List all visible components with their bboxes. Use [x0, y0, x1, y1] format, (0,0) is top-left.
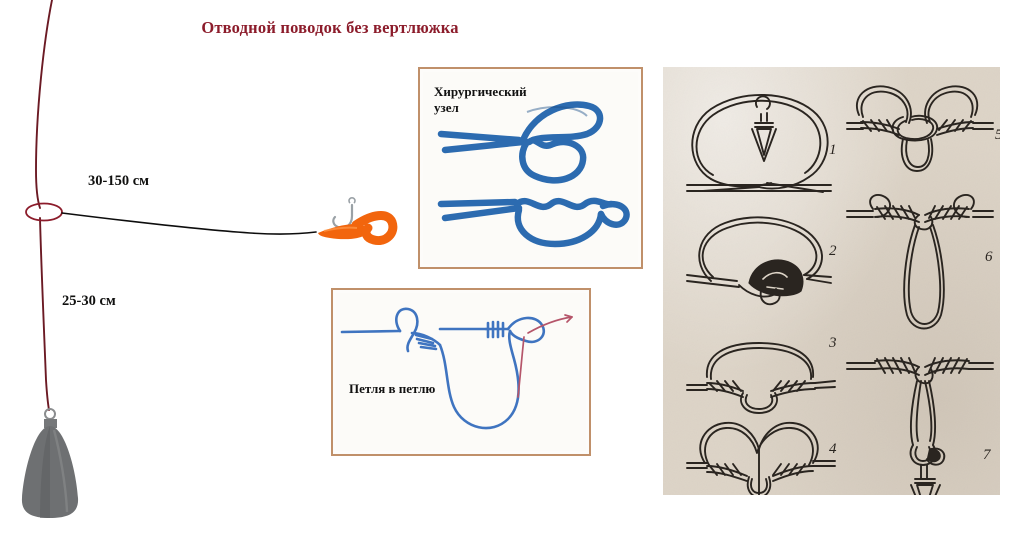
panel-loop-to-loop-caption: Петля в петлю [349, 381, 435, 397]
leader-line [62, 213, 316, 234]
main-line-upper [36, 0, 52, 208]
surgeon-upper-bottom-loop [522, 140, 583, 180]
panel-loop-to-loop-inner: Петля в петлю [336, 293, 586, 451]
dropper-length-label: 25-30 см [62, 293, 116, 310]
panel-surgeon-knot: Хирургический узел [418, 67, 643, 269]
step-number-1: 1 [829, 142, 837, 159]
panel-loop-to-loop: Петля в петлю [331, 288, 591, 456]
surgeon-upper-tail-b [445, 142, 523, 150]
fishing-rig-schematic: 30-150 см 25-30 см [0, 0, 420, 540]
surgeon-lower-tail-b [445, 208, 519, 218]
panel-surgeon-knot-inner: Хирургический узел [423, 72, 638, 264]
knot-step-3 [687, 343, 835, 413]
vintage-knot-steps-illustration: 1 2 3 4 5 6 7 [663, 67, 1000, 495]
leader-length-label: 30-150 см [88, 173, 149, 190]
sinker-ring-icon [45, 409, 55, 419]
hook-eye-icon [349, 198, 355, 203]
knot-step-2-shading [749, 260, 803, 296]
loop-right-small-loop [508, 318, 544, 342]
surgeon-lower-tail-a [441, 202, 515, 204]
loop-knot [26, 204, 62, 221]
knot-step-1 [687, 95, 831, 192]
surgeon-lower-end-loop [601, 204, 627, 225]
surgeon-lower-body [518, 210, 601, 244]
surgeon-lower-wraps [517, 201, 611, 207]
surgeon-upper-tail-a [441, 134, 519, 140]
knot-steps-drawing [663, 67, 1000, 495]
loop-left-line [342, 331, 400, 332]
loop-left-small-loop [396, 309, 417, 351]
panel-surgeon-knot-caption: Хирургический узел [434, 84, 527, 116]
loop-to-loop-diagram [336, 293, 586, 451]
step-number-4: 4 [829, 441, 837, 458]
step-number-3: 3 [829, 335, 837, 352]
step-number-2: 2 [829, 243, 837, 260]
loop-accent-line [518, 337, 524, 397]
knot-step-7-snap-shading [927, 449, 941, 463]
step-number-6: 6 [985, 249, 993, 266]
knot-step-7 [847, 358, 993, 495]
knot-step-5 [847, 86, 993, 171]
knot-step-6 [847, 195, 993, 329]
loop-long-droop [440, 331, 519, 428]
step-number-7: 7 [983, 447, 991, 464]
step-number-5: 5 [995, 127, 1000, 144]
rig-drawing [0, 0, 420, 540]
knot-step-4 [687, 423, 835, 495]
main-line-dropper [40, 218, 49, 410]
